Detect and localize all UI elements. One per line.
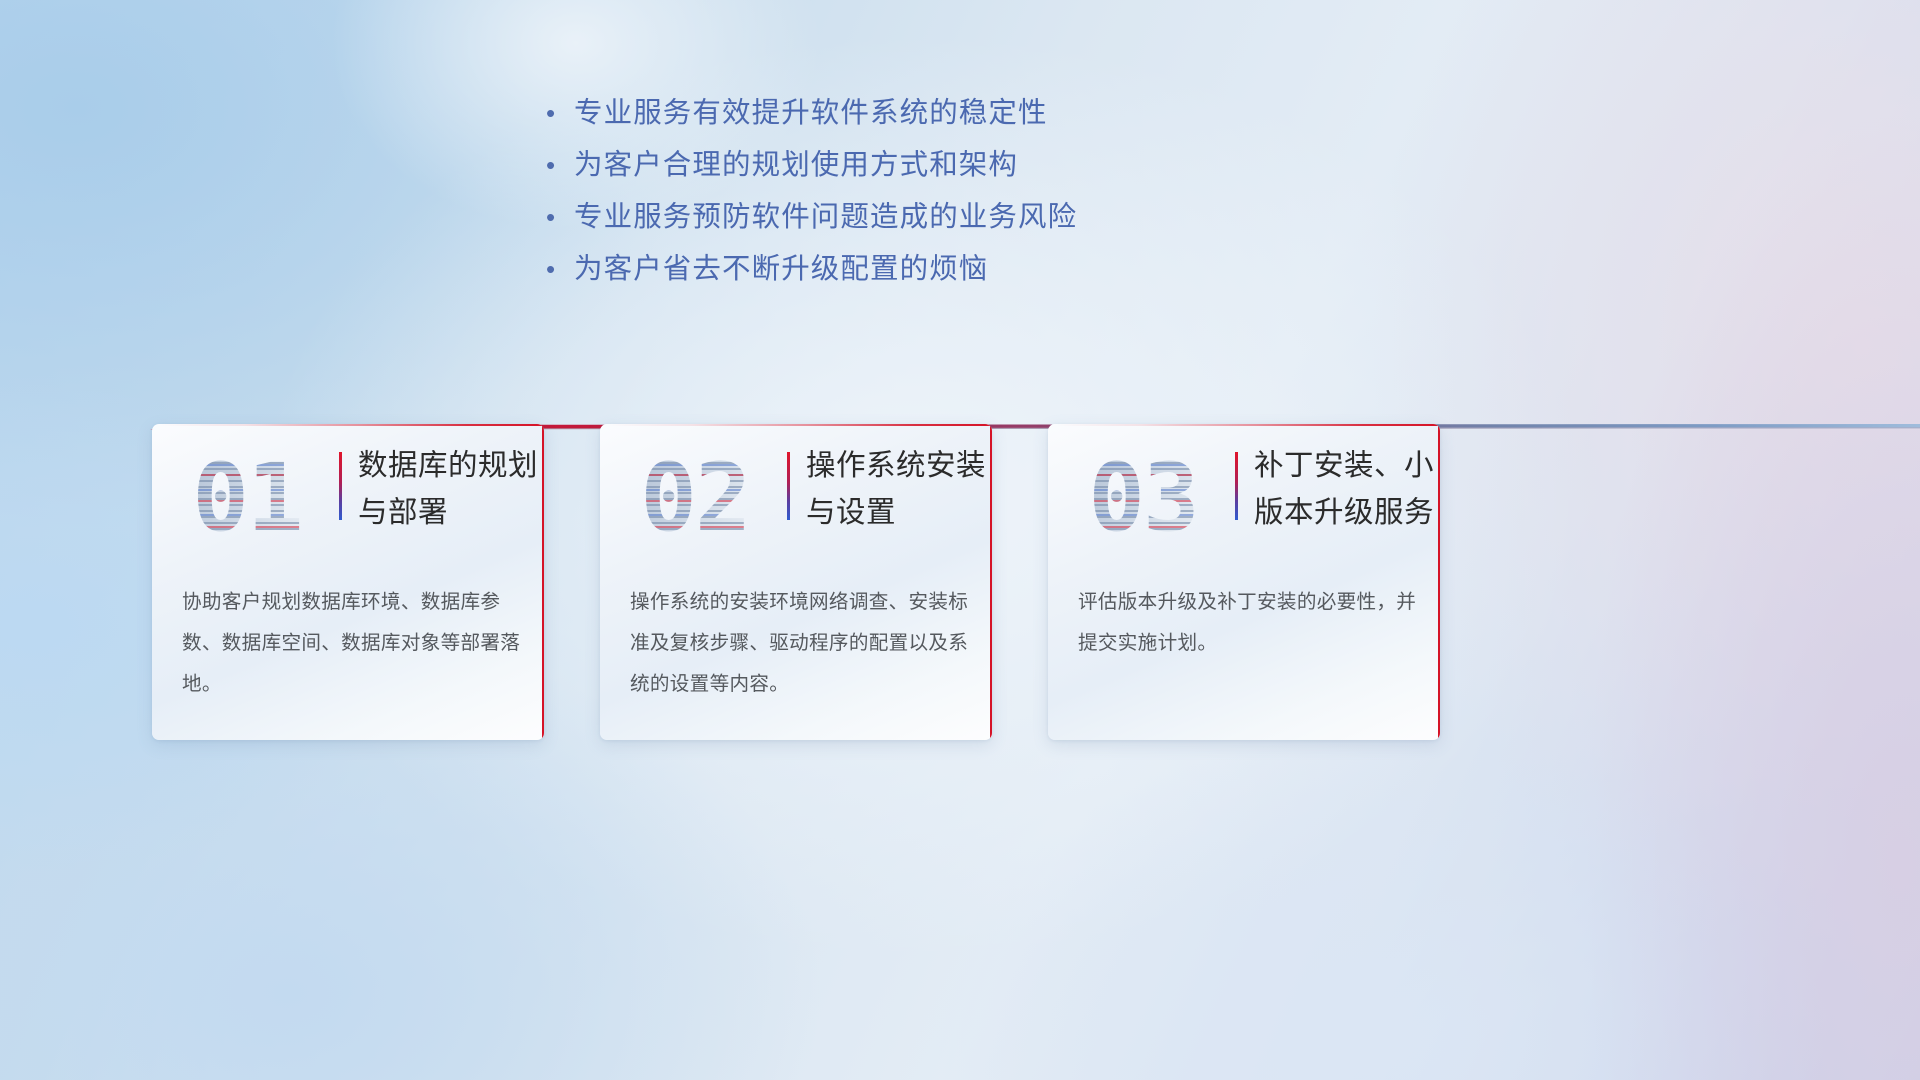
card-header: 01 01 数据库的规划 与部署 [152, 438, 544, 566]
bullet-item: • 为客户合理的规划使用方式和架构 [538, 140, 1077, 192]
card-top-accent-line [1056, 424, 1440, 426]
card-title-accent-bar [339, 452, 342, 520]
card-title-line-2: 与部署 [358, 489, 538, 536]
bullet-text: 为客户合理的规划使用方式和架构 [574, 140, 1018, 190]
card-title-line-1: 数据库的规划 [358, 442, 538, 489]
bullet-dot-icon: • [538, 140, 574, 190]
bullet-item: • 专业服务预防软件问题造成的业务风险 [538, 192, 1077, 244]
card-description: 协助客户规划数据库环境、数据库参数、数据库空间、数据库对象等部署落地。 [182, 582, 522, 705]
card-title: 补丁安装、小 版本升级服务 [1254, 442, 1434, 536]
card-title-accent-bar [1235, 452, 1238, 520]
service-card[interactable]: 01 01 数据库的规划 与部署 协助客户规划数据库环境、数据库参数、数据库空间… [152, 424, 544, 740]
card-title: 操作系统安装 与设置 [806, 442, 986, 536]
bullet-text: 为客户省去不断升级配置的烦恼 [574, 244, 988, 294]
service-card-list: 01 01 数据库的规划 与部署 协助客户规划数据库环境、数据库参数、数据库空间… [152, 424, 1792, 754]
card-number-watermark: 01 [172, 444, 322, 554]
bullet-text: 专业服务预防软件问题造成的业务风险 [574, 192, 1077, 242]
bullet-text: 专业服务有效提升软件系统的稳定性 [574, 88, 1048, 138]
service-card[interactable]: 02 02 操作系统安装 与设置 操作系统的安装环境网络调查、安装标准及复核步骤… [600, 424, 992, 740]
card-number-watermark: 02 [620, 444, 770, 554]
bullet-item: • 为客户省去不断升级配置的烦恼 [538, 244, 1077, 296]
card-title: 数据库的规划 与部署 [358, 442, 538, 536]
bullet-dot-icon: • [538, 192, 574, 242]
card-header: 02 02 操作系统安装 与设置 [600, 438, 992, 566]
bullet-list: • 专业服务有效提升软件系统的稳定性 • 为客户合理的规划使用方式和架构 • 专… [538, 88, 1077, 296]
card-title-line-2: 版本升级服务 [1254, 489, 1434, 536]
service-card[interactable]: 03 03 补丁安装、小 版本升级服务 评估版本升级及补丁安装的必要性，并提交实… [1048, 424, 1440, 740]
card-number-watermark: 03 [1068, 444, 1218, 554]
card-header: 03 03 补丁安装、小 版本升级服务 [1048, 438, 1440, 566]
card-title-line-1: 补丁安装、小 [1254, 442, 1434, 489]
card-title-accent-bar [787, 452, 790, 520]
card-title-line-2: 与设置 [806, 489, 986, 536]
bullet-dot-icon: • [538, 244, 574, 294]
bullet-item: • 专业服务有效提升软件系统的稳定性 [538, 88, 1077, 140]
card-title-line-1: 操作系统安装 [806, 442, 986, 489]
card-top-accent-line [608, 424, 992, 426]
card-top-accent-line [160, 424, 544, 426]
bullet-dot-icon: • [538, 88, 574, 138]
card-description: 操作系统的安装环境网络调查、安装标准及复核步骤、驱动程序的配置以及系统的设置等内… [630, 582, 970, 705]
card-description: 评估版本升级及补丁安装的必要性，并提交实施计划。 [1078, 582, 1418, 664]
